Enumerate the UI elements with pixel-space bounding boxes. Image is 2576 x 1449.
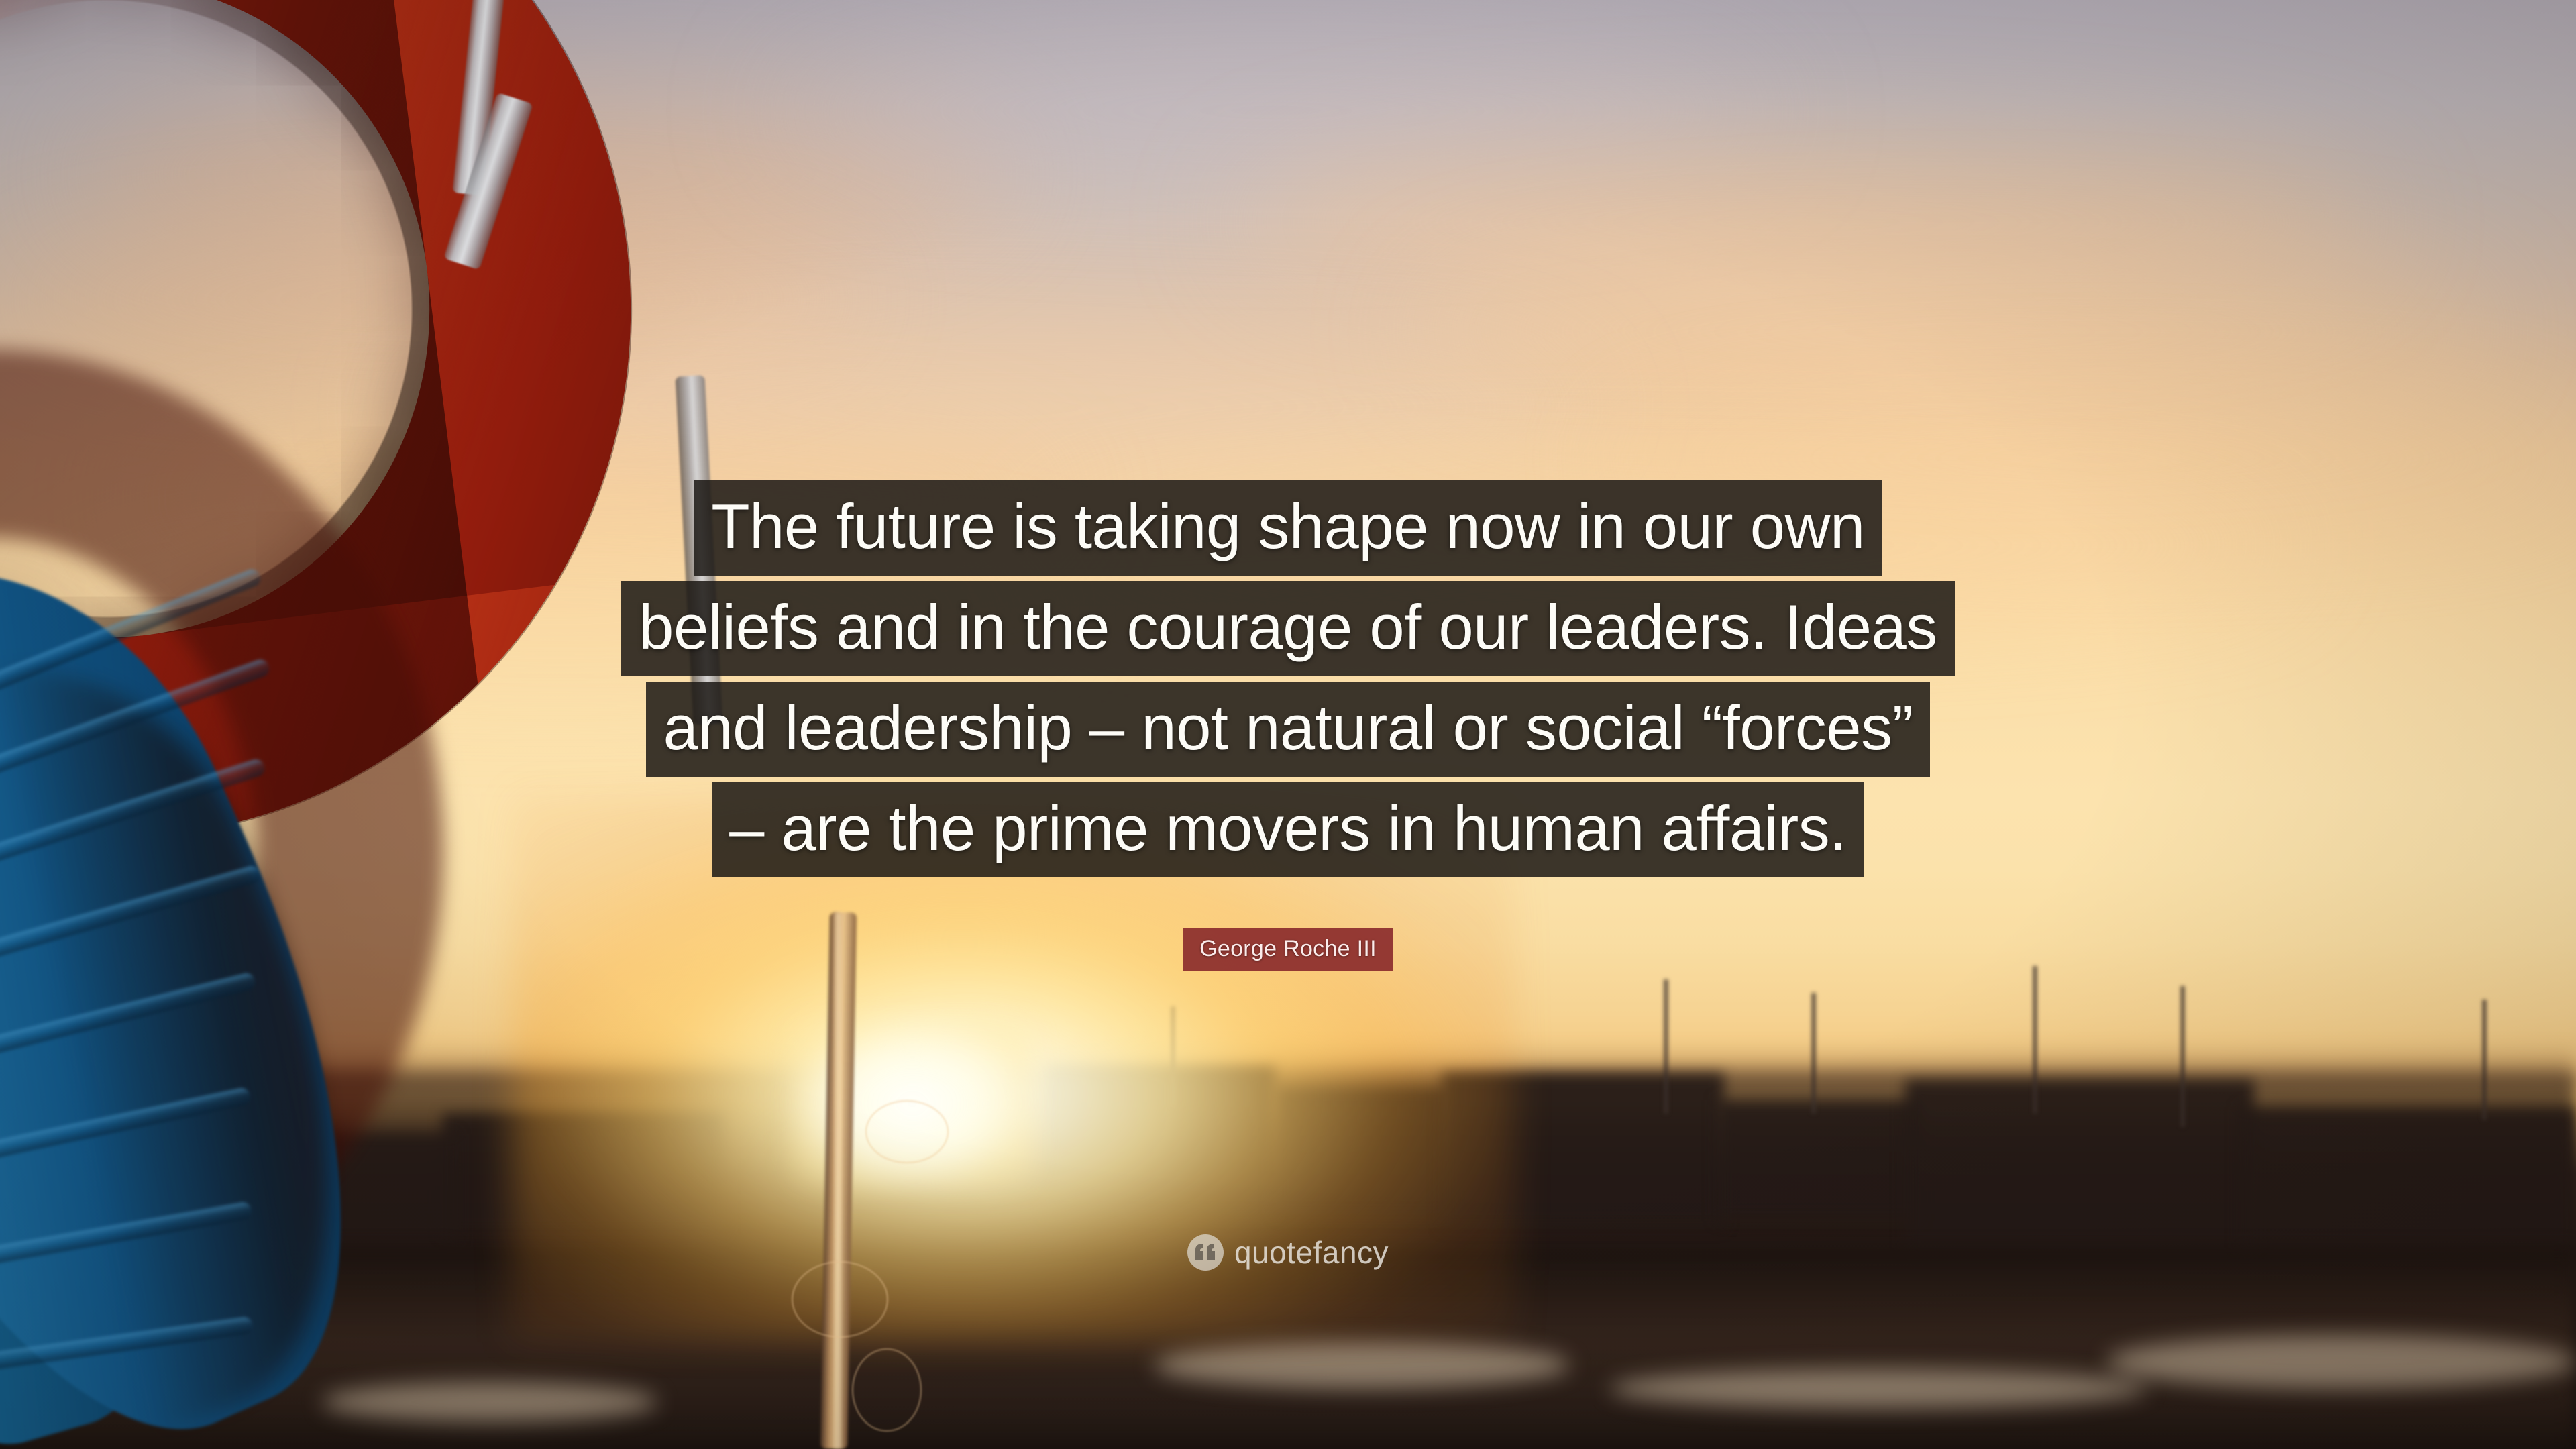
water-glint bbox=[2106, 1335, 2576, 1389]
cord-fray bbox=[865, 1100, 949, 1163]
quote-line: and leadership – not natural or social “… bbox=[646, 682, 1931, 777]
mast-silhouette bbox=[2180, 986, 2185, 1127]
water-glint bbox=[1610, 1368, 2147, 1409]
quote-line: beliefs and in the courage of our leader… bbox=[621, 581, 1955, 676]
quote-line: – are the prime movers in human affairs. bbox=[712, 782, 1864, 877]
mast-silhouette bbox=[2482, 1000, 2487, 1120]
cord-highlight bbox=[835, 912, 841, 1449]
building-silhouette bbox=[1905, 1080, 2254, 1248]
building-silhouette bbox=[1717, 1100, 1919, 1221]
author-name: George Roche III bbox=[1183, 928, 1393, 971]
mast-silhouette bbox=[1811, 993, 1816, 1114]
building-silhouette bbox=[2241, 1107, 2576, 1248]
cord-fray bbox=[852, 1348, 922, 1432]
watermark: quotefancy bbox=[0, 1234, 2576, 1271]
author-attribution: George Roche III bbox=[0, 928, 2576, 971]
mast-silhouette bbox=[1664, 979, 1668, 1114]
water-glint bbox=[1154, 1342, 1570, 1389]
quote-text-block: The future is taking shape now in our ow… bbox=[0, 480, 2576, 883]
cloud-streak bbox=[1417, 261, 2490, 402]
water-glint bbox=[322, 1382, 657, 1422]
mast-silhouette bbox=[2033, 966, 2037, 1114]
quote-poster: The future is taking shape now in our ow… bbox=[0, 0, 2576, 1449]
quote-line: The future is taking shape now in our ow… bbox=[694, 480, 1882, 576]
quote-mark-icon bbox=[1187, 1234, 1224, 1271]
cord-fray bbox=[792, 1261, 888, 1338]
watermark-brand: quotefancy bbox=[1234, 1234, 1389, 1271]
